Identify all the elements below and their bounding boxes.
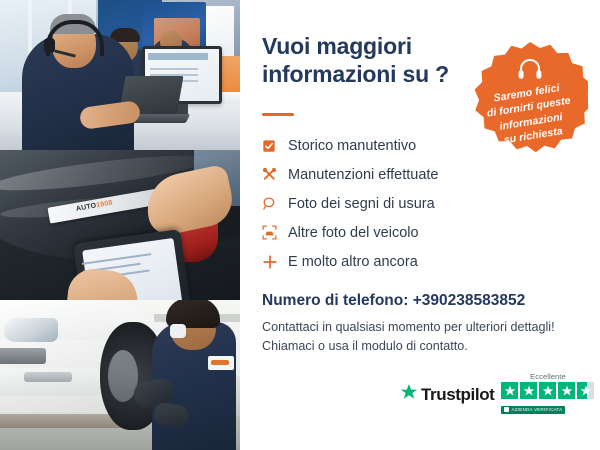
car-scan-icon bbox=[262, 225, 288, 240]
headline-line-2: informazioni su ? bbox=[262, 60, 472, 88]
trustpilot-star-filled bbox=[520, 382, 537, 399]
gauge-label-a: AUTO bbox=[76, 202, 97, 212]
verified-label: AZIENDA VERIFICATA bbox=[511, 407, 562, 412]
feature-item-vehicle-photos: Altre foto del veicolo bbox=[262, 218, 582, 247]
verified-check-icon bbox=[504, 407, 509, 412]
patch-logo-icon bbox=[211, 360, 229, 365]
trustpilot-star-partial bbox=[577, 382, 594, 399]
photo-wheel-inspection bbox=[0, 300, 240, 450]
title-underline-divider bbox=[262, 113, 294, 116]
feature-label: E molto altro ancora bbox=[288, 254, 418, 270]
photo-call-center bbox=[0, 0, 240, 150]
gauge-brand-label: AUTO1908 bbox=[76, 200, 114, 213]
trustpilot-logo: Trustpilot bbox=[400, 383, 494, 406]
trustpilot-rating[interactable]: Trustpilot Eccellente bbox=[400, 372, 594, 417]
promo-banner: AUTO1908 bbox=[0, 0, 600, 450]
gauge-label-b: 1908 bbox=[96, 200, 113, 210]
mechanic-face-mask bbox=[170, 324, 186, 338]
page-title: Vuoi maggiori informazioni su ? bbox=[262, 32, 472, 88]
feature-item-wear-photos: Foto dei segni di usura bbox=[262, 189, 582, 218]
trustpilot-rating-label: Eccellente bbox=[501, 372, 594, 381]
car-grille bbox=[0, 348, 46, 364]
plus-icon bbox=[262, 254, 288, 270]
content-panel: Vuoi maggiori informazioni su ? Saremo f… bbox=[240, 0, 600, 450]
contact-subtext-line-2: Chiamaci o usa il modulo di contatto. bbox=[262, 337, 582, 356]
monitor-screen-toolbar bbox=[148, 53, 208, 60]
headline-line-1: Vuoi maggiori bbox=[262, 33, 412, 59]
feature-item-maintenance-done: Manutenzioni effettuate bbox=[262, 160, 582, 189]
feature-label: Foto dei segni di usura bbox=[288, 196, 435, 212]
clipboard-check-icon bbox=[262, 139, 288, 153]
trustpilot-star-filled bbox=[558, 382, 575, 399]
monitor-screen-line bbox=[150, 68, 198, 70]
feature-label: Altre foto del veicolo bbox=[288, 225, 419, 241]
feature-item-more: E molto altro ancora bbox=[262, 247, 582, 276]
verified-company-badge: AZIENDA VERIFICATA bbox=[501, 406, 565, 414]
photo-column: AUTO1908 bbox=[0, 0, 240, 450]
car-fog-light bbox=[24, 372, 72, 382]
magnifier-icon bbox=[262, 196, 288, 211]
photo-paint-inspection: AUTO1908 bbox=[0, 150, 240, 300]
feature-label: Manutenzioni effettuate bbox=[288, 167, 438, 183]
trustpilot-star-filled bbox=[501, 382, 518, 399]
headset-icon bbox=[517, 58, 543, 80]
trustpilot-star-icon bbox=[400, 383, 418, 406]
mechanic-uniform-patch bbox=[208, 356, 234, 370]
feature-item-maintenance-history: Storico manutentivo bbox=[262, 131, 582, 160]
contact-subtext-line-1: Contattaci in qualsiasi momento per ulte… bbox=[262, 318, 582, 337]
feature-list: Storico manutentivo Manutenzioni effettu… bbox=[262, 131, 582, 276]
trustpilot-wordmark: Trustpilot bbox=[421, 385, 494, 405]
wrench-screwdriver-icon bbox=[262, 167, 288, 182]
trustpilot-score-block: Eccellente bbox=[501, 372, 594, 417]
trustpilot-star-filled bbox=[539, 382, 556, 399]
car-headlight bbox=[4, 318, 58, 342]
contact-subtext: Contattaci in qualsiasi momento per ulte… bbox=[262, 318, 582, 356]
trustpilot-stars bbox=[501, 382, 594, 399]
phone-number-label: Numero di telefono: +390238583852 bbox=[262, 292, 525, 310]
feature-label: Storico manutentivo bbox=[288, 138, 416, 154]
